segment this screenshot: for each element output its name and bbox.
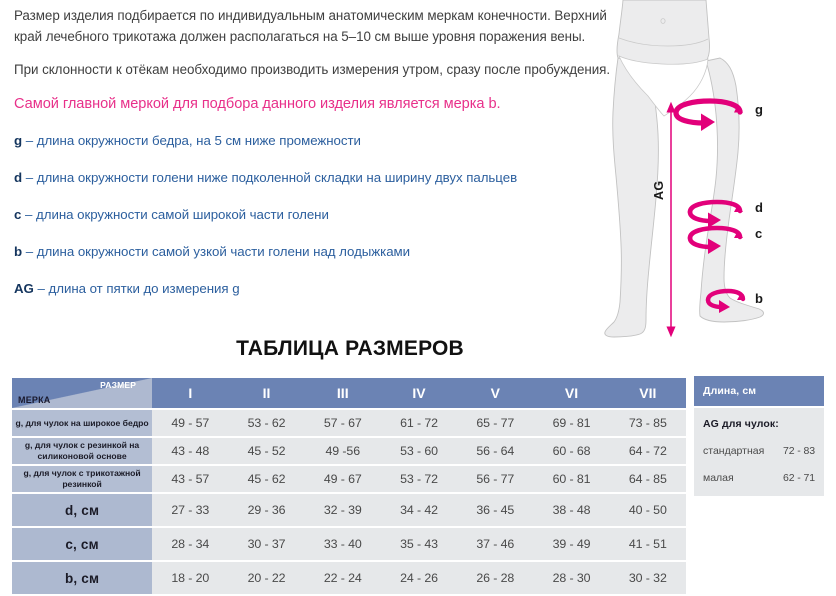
table-row: g, для чулок на широкое бедро 49 - 57 53… — [12, 410, 686, 436]
column-header-7: VII — [610, 378, 686, 408]
table-cell: 20 - 22 — [228, 562, 304, 594]
table-cell: 49 -56 — [305, 438, 381, 464]
table-cell: 39 - 49 — [533, 528, 609, 560]
table-cell: 61 - 72 — [381, 410, 457, 436]
table-cell: 45 - 52 — [228, 438, 304, 464]
length-row-value: 72 - 83 — [783, 445, 815, 457]
length-panel-title: AG для чулок: — [703, 418, 815, 430]
figure-label-c: c — [755, 226, 762, 241]
table-cell: 64 - 85 — [610, 466, 686, 492]
table-cell: 35 - 43 — [381, 528, 457, 560]
leg-measurement-illustration: g d c b AG — [600, 0, 836, 345]
row-label: c, см — [12, 528, 152, 560]
row-label: g, для чулок на широкое бедро — [12, 410, 152, 436]
length-row-name: стандартная — [703, 445, 764, 457]
table-cell: 65 - 77 — [457, 410, 533, 436]
size-table: РАЗМЕР МЕРКА I II III IV V VI VII g, для… — [12, 376, 686, 596]
header-corner-cell: РАЗМЕР МЕРКА — [12, 378, 152, 408]
table-cell: 40 - 50 — [610, 494, 686, 526]
length-panel-body: AG для чулок: стандартная 72 - 83 малая … — [694, 408, 824, 496]
table-cell: 32 - 39 — [305, 494, 381, 526]
length-row: стандартная 72 - 83 — [703, 445, 815, 457]
female-legs-figure-icon — [600, 0, 836, 345]
table-cell: 53 - 62 — [228, 410, 304, 436]
ag-dimension-arrow — [667, 103, 675, 336]
table-cell: 38 - 48 — [533, 494, 609, 526]
intro-paragraph-2: При склонности к отёкам необходимо произ… — [14, 60, 610, 81]
legend-dash: – — [38, 281, 45, 296]
table-cell: 49 - 57 — [152, 410, 228, 436]
column-header-4: IV — [381, 378, 457, 408]
figure-label-d: d — [755, 200, 763, 215]
legend-text: длина окружности голени ниже подколенной… — [37, 170, 517, 185]
figure-label-b: b — [755, 291, 763, 306]
table-cell: 73 - 85 — [610, 410, 686, 436]
legend-dash: – — [26, 244, 33, 259]
length-row: малая 62 - 71 — [703, 472, 815, 484]
table-cell: 64 - 72 — [610, 438, 686, 464]
table-header-row: РАЗМЕР МЕРКА I II III IV V VI VII — [12, 378, 686, 408]
figure-label-ag: AG — [652, 181, 666, 200]
table-cell: 37 - 46 — [457, 528, 533, 560]
table-row: c, см 28 - 34 30 - 37 33 - 40 35 - 43 37… — [12, 528, 686, 560]
length-row-name: малая — [703, 472, 734, 484]
table-cell: 26 - 28 — [457, 562, 533, 594]
table-cell: 18 - 20 — [152, 562, 228, 594]
legend-text: длина окружности бедра, на 5 см ниже про… — [37, 133, 361, 148]
table-cell: 33 - 40 — [305, 528, 381, 560]
table-cell: 36 - 45 — [457, 494, 533, 526]
row-label: d, см — [12, 494, 152, 526]
row-label: g, для чулок с трикотажной резинкой — [12, 466, 152, 492]
legend-item: b – длина окружности самой узкой части г… — [14, 243, 610, 260]
body-outline — [605, 0, 764, 337]
table-cell: 43 - 57 — [152, 466, 228, 492]
table-cell: 29 - 36 — [228, 494, 304, 526]
table-cell: 27 - 33 — [152, 494, 228, 526]
column-header-1: I — [152, 378, 228, 408]
table-cell: 41 - 51 — [610, 528, 686, 560]
table-cell: 45 - 62 — [228, 466, 304, 492]
table-cell: 34 - 42 — [381, 494, 457, 526]
column-header-5: V — [457, 378, 533, 408]
table-cell: 69 - 81 — [533, 410, 609, 436]
table-cell: 30 - 37 — [228, 528, 304, 560]
instructions-column: Размер изделия подбирается по индивидуал… — [14, 6, 610, 317]
legend-key: b — [14, 244, 22, 259]
legend-dash: – — [26, 133, 33, 148]
column-header-6: VI — [533, 378, 609, 408]
table-cell: 49 - 67 — [305, 466, 381, 492]
legend-dash: – — [26, 170, 33, 185]
page-title: ТАБЛИЦА РАЗМЕРОВ — [0, 337, 700, 361]
highlight-note: Самой главной меркой для подбора данного… — [14, 94, 610, 114]
row-label: b, см — [12, 562, 152, 594]
table-cell: 28 - 30 — [533, 562, 609, 594]
table-cell: 22 - 24 — [305, 562, 381, 594]
table-cell: 56 - 64 — [457, 438, 533, 464]
legend-item: c – длина окружности самой широкой части… — [14, 206, 610, 223]
legend-key: g — [14, 133, 22, 148]
table-row: b, см 18 - 20 20 - 22 22 - 24 24 - 26 26… — [12, 562, 686, 594]
length-panel: Длина, см AG для чулок: стандартная 72 -… — [694, 376, 824, 496]
table-cell: 30 - 32 — [610, 562, 686, 594]
table-row: g, для чулок с резинкой на силиконовой о… — [12, 438, 686, 464]
table-row: d, см 27 - 33 29 - 36 32 - 39 34 - 42 36… — [12, 494, 686, 526]
header-size-label: РАЗМЕР — [100, 380, 136, 390]
table-cell: 60 - 68 — [533, 438, 609, 464]
length-panel-header: Длина, см — [694, 376, 824, 406]
legend-text: длина от пятки до измерения g — [49, 281, 240, 296]
table-cell: 60 - 81 — [533, 466, 609, 492]
intro-paragraph-1: Размер изделия подбирается по индивидуал… — [14, 6, 610, 47]
column-header-2: II — [228, 378, 304, 408]
table-cell: 56 - 77 — [457, 466, 533, 492]
measurement-legend: g – длина окружности бедра, на 5 см ниже… — [14, 132, 610, 297]
header-measure-label: МЕРКА — [18, 395, 51, 405]
table-cell: 53 - 72 — [381, 466, 457, 492]
table-cell: 24 - 26 — [381, 562, 457, 594]
table-cell: 28 - 34 — [152, 528, 228, 560]
legend-key: AG — [14, 281, 34, 296]
legend-item: g – длина окружности бедра, на 5 см ниже… — [14, 132, 610, 149]
legend-item: AG – длина от пятки до измерения g — [14, 280, 610, 297]
column-header-3: III — [305, 378, 381, 408]
table-row: g, для чулок с трикотажной резинкой 43 -… — [12, 466, 686, 492]
legend-dash: – — [25, 207, 32, 222]
figure-label-g: g — [755, 102, 763, 117]
row-label: g, для чулок с резинкой на силиконовой о… — [12, 438, 152, 464]
table-cell: 57 - 67 — [305, 410, 381, 436]
legend-text: длина окружности самой узкой части голен… — [37, 244, 410, 259]
legend-item: d – длина окружности голени ниже подколе… — [14, 169, 610, 186]
legend-key: c — [14, 207, 21, 222]
length-row-value: 62 - 71 — [783, 472, 815, 484]
legend-text: длина окружности самой широкой части гол… — [36, 207, 329, 222]
legend-key: d — [14, 170, 22, 185]
table-cell: 43 - 48 — [152, 438, 228, 464]
table-cell: 53 - 60 — [381, 438, 457, 464]
